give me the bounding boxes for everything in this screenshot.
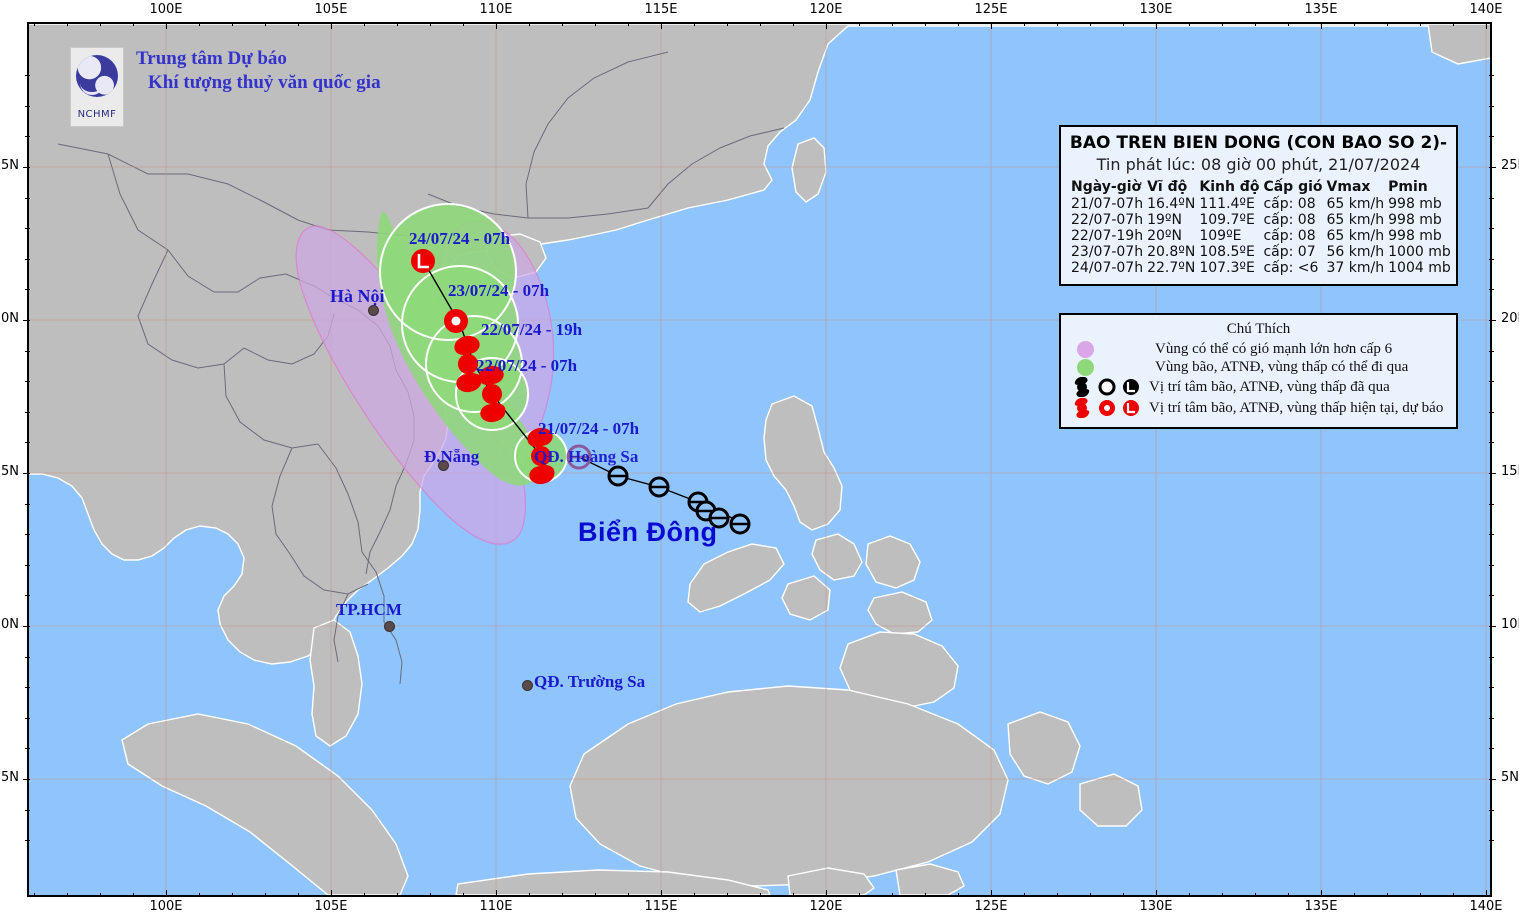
axis-tick: [364, 893, 365, 897]
forecast-col-5: Pmin: [1386, 178, 1453, 196]
axis-label: 115E: [644, 899, 677, 914]
axis-tick: [1453, 22, 1454, 26]
axis-tick: [958, 22, 959, 26]
axis-label: 135E: [1304, 899, 1337, 914]
forecast-col-3: Cấp gió: [1261, 178, 1324, 196]
forecast-cell: 998 mb: [1386, 212, 1453, 228]
axis-label: 10N: [1501, 617, 1519, 632]
legend-title: Chú Thích: [1069, 321, 1448, 338]
agency-name: Trung tâm Dự báo Khí tượng thuỷ văn quốc…: [136, 47, 381, 95]
forecast-cell: 998 mb: [1386, 196, 1453, 212]
axis-label: 130E: [1139, 2, 1172, 17]
forecast-position-24-07-07h: [411, 249, 435, 273]
axis-tick: [25, 136, 30, 137]
forecast-cell: 107.3ºE: [1197, 260, 1261, 276]
axis-tick: [1189, 22, 1190, 26]
axis-tick: [694, 22, 695, 26]
axis-tick: [232, 22, 233, 26]
axis-tick: [1156, 22, 1157, 29]
axis-tick: [25, 810, 30, 811]
axis-tick: [100, 893, 101, 897]
axis-tick: [1489, 473, 1496, 474]
axis-tick: [628, 893, 629, 897]
forecast-row: 22/07-19h20ºN109ºEcấp: 0865 km/h998 mb: [1069, 228, 1453, 244]
forecast-row: 22/07-07h19ºN109.7ºEcấp: 0865 km/h998 mb: [1069, 212, 1453, 228]
axis-tick: [1288, 22, 1289, 26]
axis-tick: [1489, 442, 1494, 443]
nchmf-logo: NCHMF Trung tâm Dự báo Khí tượng thuỷ vă…: [70, 47, 381, 127]
nchmf-emblem-icon: NCHMF: [70, 47, 124, 127]
axis-tick: [1489, 198, 1494, 199]
axis-tick: [331, 890, 332, 897]
forecast-cell: 65 km/h: [1325, 228, 1387, 244]
forecast-cell: 1000 mb: [1386, 244, 1453, 260]
axis-tick: [1489, 687, 1494, 688]
axis-tick: [265, 22, 266, 26]
axis-tick: [892, 893, 893, 897]
forecast-cell: 22/07-07h: [1069, 212, 1145, 228]
axis-tick: [1489, 595, 1494, 596]
green-circle-icon: [1077, 359, 1094, 376]
axis-tick: [793, 22, 794, 26]
axis-label: 140E: [1469, 899, 1502, 914]
axis-tick: [727, 893, 728, 897]
axis-tick: [1354, 893, 1355, 897]
axis-tick: [595, 893, 596, 897]
axis-tick: [23, 320, 30, 321]
axis-tick: [925, 893, 926, 897]
forecast-cell: 24/07-07h: [1069, 260, 1145, 276]
axis-tick: [25, 259, 30, 260]
island-dot-truongsa: [522, 680, 533, 691]
axis-tick: [1489, 320, 1496, 321]
forecast-cell: 56 km/h: [1325, 244, 1387, 260]
axis-tick: [397, 22, 398, 26]
axis-tick: [23, 626, 30, 627]
axis-tick: [925, 22, 926, 26]
forecast-col-0: Ngày-giờ: [1069, 178, 1145, 196]
axis-tick: [1123, 22, 1124, 26]
axis-tick: [760, 22, 761, 26]
axis-tick: [826, 890, 827, 897]
axis-tick: [1057, 22, 1058, 26]
storm-info-panel: BAO TREN BIEN DONG (CON BAO SO 2)- Tin p…: [1059, 125, 1458, 286]
axis-tick: [1489, 840, 1494, 841]
axis-tick: [991, 890, 992, 897]
city-label-tphcm: TP.HCM: [336, 600, 402, 620]
city-dot-tphcm: [384, 621, 395, 632]
axis-tick: [661, 890, 662, 897]
axis-tick: [1222, 893, 1223, 897]
legend-item-path: Vùng bão, ATNĐ, vùng thấp có thể đi qua: [1069, 359, 1448, 376]
open-circle-red-icon: [1097, 398, 1117, 418]
axis-tick: [1489, 565, 1494, 566]
axis-tick: [25, 657, 30, 658]
island-label-hoangsa: QĐ. Hoàng Sa: [534, 447, 638, 467]
axis-tick: [166, 890, 167, 897]
agency-name-line2: Khí tượng thuỷ văn quốc gia: [136, 71, 381, 95]
forecast-table-body: 21/07-07h16.4ºN111.4ºEcấp: 0865 km/h998 …: [1069, 196, 1453, 276]
axis-label: 10N: [0, 617, 19, 632]
axis-tick: [25, 504, 30, 505]
axis-tick: [1420, 893, 1421, 897]
axis-tick: [67, 893, 68, 897]
axis-tick: [1489, 626, 1496, 627]
legend-item-current: Vị trí tâm bão, ATNĐ, vùng thấp hiện tại…: [1069, 398, 1448, 418]
axis-tick: [859, 893, 860, 897]
forecast-cell: 16.4ºN: [1145, 196, 1197, 212]
axis-tick: [34, 22, 35, 26]
axis-right: [1490, 22, 1492, 897]
axis-tick: [397, 893, 398, 897]
axis-tick: [199, 22, 200, 26]
axis-tick: [562, 893, 563, 897]
forecast-cell: 19ºN: [1145, 212, 1197, 228]
axis-tick: [1222, 22, 1223, 26]
forecast-cell: 65 km/h: [1325, 212, 1387, 228]
axis-tick: [859, 22, 860, 26]
axis-tick: [628, 22, 629, 26]
axis-tick: [793, 893, 794, 897]
storm-info-subtitle: Tin phát lúc: 08 giờ 00 phút, 21/07/2024: [1069, 155, 1448, 174]
axis-tick: [25, 687, 30, 688]
axis-tick: [265, 893, 266, 897]
forecast-row: 23/07-07h20.8ºN108.5ºEcấp: 0756 km/h1000…: [1069, 244, 1453, 260]
forecast-cell: 21/07-07h: [1069, 196, 1145, 212]
axis-tick: [331, 22, 332, 29]
forecast-row: 21/07-07h16.4ºN111.4ºEcấp: 0865 km/h998 …: [1069, 196, 1453, 212]
axis-tick: [1057, 893, 1058, 897]
axis-tick: [25, 412, 30, 413]
axis-tick: [727, 22, 728, 26]
nchmf-acronym: NCHMF: [71, 109, 123, 120]
forecast-table: Ngày-giờVĩ độKinh độCấp gióVmaxPmin 21/0…: [1069, 178, 1453, 276]
axis-label: 125E: [974, 899, 1007, 914]
forecast-time-label-23: 23/07/24 - 07h: [448, 281, 549, 301]
forecast-position-23-07-07h: [444, 309, 468, 333]
axis-tick: [1387, 22, 1388, 26]
axis-label: 5N: [1501, 770, 1519, 785]
axis-tick: [1489, 718, 1494, 719]
forecast-cell: 109.7ºE: [1197, 212, 1261, 228]
axis-label: 100E: [149, 899, 182, 914]
forecast-cell: 65 km/h: [1325, 196, 1387, 212]
legend-label-current: Vị trí tâm bão, ATNĐ, vùng thấp hiện tại…: [1149, 400, 1443, 417]
axis-tick: [199, 893, 200, 897]
axis-tick: [25, 534, 30, 535]
legend-symbol-purple-circle: [1069, 341, 1155, 358]
forecast-cell: 23/07-07h: [1069, 244, 1145, 260]
legend-item-past: Vị trí tâm bão, ATNĐ, vùng thấp đã qua: [1069, 377, 1448, 397]
axis-tick: [1024, 22, 1025, 26]
legend-symbol-red-group: [1069, 398, 1149, 418]
forecast-cell: cấp: 07: [1261, 244, 1324, 260]
axis-label: 120E: [809, 899, 842, 914]
forecast-col-1: Vĩ độ: [1145, 178, 1197, 196]
axis-tick: [23, 779, 30, 780]
legend-panel: Chú Thích Vùng có thể có gió mạnh lớn hơ…: [1059, 313, 1458, 429]
axis-tick: [1489, 106, 1494, 107]
forecast-cell: 20ºN: [1145, 228, 1197, 244]
legend-label-past: Vị trí tâm bão, ATNĐ, vùng thấp đã qua: [1149, 379, 1390, 396]
axis-tick: [760, 893, 761, 897]
axis-tick: [1489, 381, 1494, 382]
axis-label: 125E: [974, 2, 1007, 17]
axis-tick: [166, 22, 167, 29]
legend-label-wind6: Vùng có thể có gió mạnh lớn hơn cấp 6: [1155, 341, 1392, 358]
axis-label: 110E: [479, 2, 512, 17]
axis-label: 15N: [0, 464, 19, 479]
forecast-time-label-21: 21/07/24 - 07h: [538, 419, 639, 439]
forecast-cell: 998 mb: [1386, 228, 1453, 244]
axis-tick: [1189, 893, 1190, 897]
axis-label: 135E: [1304, 2, 1337, 17]
axis-tick: [1288, 893, 1289, 897]
axis-tick: [25, 381, 30, 382]
axis-tick: [25, 351, 30, 352]
open-circle-black-icon: [1097, 377, 1117, 397]
axis-tick: [1255, 22, 1256, 26]
axis-tick: [1024, 893, 1025, 897]
axis-label: 100E: [149, 2, 182, 17]
axis-left: [27, 22, 29, 897]
axis-tick: [463, 893, 464, 897]
forecast-time-label-22-07h: 22/07/24 - 07h: [476, 356, 577, 376]
axis-tick: [23, 167, 30, 168]
forecast-cell: cấp: 08: [1261, 196, 1324, 212]
forecast-table-header: Ngày-giờVĩ độKinh độCấp gióVmaxPmin: [1069, 178, 1453, 196]
axis-tick: [1489, 779, 1496, 780]
axis-tick: [1489, 657, 1494, 658]
axis-tick: [694, 893, 695, 897]
axis-tick: [1387, 893, 1388, 897]
axis-tick: [25, 198, 30, 199]
axis-tick: [25, 75, 30, 76]
axis-tick: [892, 22, 893, 26]
legend-item-wind6: Vùng có thể có gió mạnh lớn hơn cấp 6: [1069, 341, 1448, 358]
forecast-cell: cấp: <6: [1261, 260, 1324, 276]
axis-tick: [1489, 167, 1496, 168]
axis-tick: [1486, 22, 1487, 29]
axis-tick: [1489, 289, 1494, 290]
axis-tick: [1123, 893, 1124, 897]
axis-tick: [1489, 748, 1494, 749]
axis-tick: [1354, 22, 1355, 26]
axis-label: 20N: [1501, 311, 1519, 326]
axis-tick: [67, 22, 68, 26]
axis-tick: [364, 22, 365, 26]
axis-label: 105E: [314, 899, 347, 914]
axis-label: 5N: [1, 770, 19, 785]
axis-tick: [25, 595, 30, 596]
axis-tick: [958, 893, 959, 897]
storm-info-title: BAO TREN BIEN DONG (CON BAO SO 2)-: [1069, 133, 1448, 153]
axis-label: 110E: [479, 899, 512, 914]
axis-tick: [25, 289, 30, 290]
axis-label: 120E: [809, 2, 842, 17]
axis-tick: [1489, 534, 1494, 535]
axis-tick: [1321, 22, 1322, 29]
axis-tick: [1489, 136, 1494, 137]
forecast-col-2: Kinh độ: [1197, 178, 1261, 196]
island-label-truongsa: QĐ. Trường Sa: [534, 672, 645, 692]
axis-label: 105E: [314, 2, 347, 17]
axis-tick: [991, 22, 992, 29]
low-pressure-red-icon: [1121, 398, 1141, 418]
axis-tick: [1255, 893, 1256, 897]
city-label-danang: Đ.Nẵng: [424, 447, 479, 467]
axis-tick: [1489, 504, 1494, 505]
typhoon-spiral-red-icon: [1071, 398, 1093, 418]
axis-tick: [232, 893, 233, 897]
axis-tick: [496, 22, 497, 29]
typhoon-spiral-black-icon: [1071, 377, 1093, 397]
sea-name-label: Biển Đông: [578, 517, 718, 548]
axis-tick: [463, 22, 464, 26]
axis-tick: [529, 893, 530, 897]
axis-tick: [25, 748, 30, 749]
axis-tick: [430, 893, 431, 897]
forecast-time-label-22-19h: 22/07/24 - 19h: [481, 320, 582, 340]
legend-symbol-black-group: [1069, 377, 1149, 397]
legend-label-path: Vùng bão, ATNĐ, vùng thấp có thể đi qua: [1155, 359, 1408, 376]
axis-tick: [1453, 893, 1454, 897]
forecast-cell: 22/07-19h: [1069, 228, 1145, 244]
axis-tick: [1489, 412, 1494, 413]
forecast-time-label-24: 24/07/24 - 07h: [409, 229, 510, 249]
axis-tick: [661, 22, 662, 29]
low-pressure-black-icon: [1121, 377, 1141, 397]
axis-tick: [25, 840, 30, 841]
axis-tick: [430, 22, 431, 26]
purple-circle-icon: [1077, 341, 1094, 358]
axis-label: 15N: [1501, 464, 1519, 479]
axis-label: 25N: [0, 158, 19, 173]
axis-tick: [1489, 228, 1494, 229]
axis-label: 130E: [1139, 899, 1172, 914]
axis-tick: [1156, 890, 1157, 897]
axis-tick: [23, 473, 30, 474]
axis-tick: [100, 22, 101, 26]
axis-tick: [25, 442, 30, 443]
forecast-cell: 111.4ºE: [1197, 196, 1261, 212]
axis-tick: [133, 893, 134, 897]
axis-tick: [1090, 893, 1091, 897]
axis-tick: [826, 22, 827, 29]
forecast-cell: 37 km/h: [1325, 260, 1387, 276]
axis-tick: [1090, 22, 1091, 26]
axis-tick: [529, 22, 530, 26]
forecast-cell: 109ºE: [1197, 228, 1261, 244]
forecast-cell: 22.7ºN: [1145, 260, 1197, 276]
axis-label: 115E: [644, 2, 677, 17]
axis-tick: [562, 22, 563, 26]
forecast-col-4: Vmax: [1325, 178, 1387, 196]
storm-forecast-map: Hà Nội Đ.Nẵng TP.HCM QĐ. Trường Sa QĐ. H…: [0, 0, 1519, 919]
forecast-cell: 20.8ºN: [1145, 244, 1197, 260]
axis-tick: [1321, 890, 1322, 897]
legend-symbol-green-circle: [1069, 359, 1155, 376]
forecast-cell: 1004 mb: [1386, 260, 1453, 276]
axis-tick: [133, 22, 134, 26]
forecast-cell: 108.5ºE: [1197, 244, 1261, 260]
axis-tick: [1420, 22, 1421, 26]
axis-tick: [298, 893, 299, 897]
axis-tick: [25, 565, 30, 566]
axis-tick: [34, 893, 35, 897]
axis-label: 20N: [0, 311, 19, 326]
axis-tick: [298, 22, 299, 26]
forecast-cell: cấp: 08: [1261, 228, 1324, 244]
axis-tick: [496, 890, 497, 897]
city-label-hanoi: Hà Nội: [330, 286, 385, 307]
axis-tick: [25, 228, 30, 229]
axis-tick: [25, 106, 30, 107]
axis-tick: [1489, 259, 1494, 260]
axis-tick: [1489, 351, 1494, 352]
axis-label: 25N: [1501, 158, 1519, 173]
axis-tick: [1489, 75, 1494, 76]
axis-tick: [1486, 890, 1487, 897]
axis-tick: [25, 718, 30, 719]
axis-label: 140E: [1469, 2, 1502, 17]
axis-tick: [595, 22, 596, 26]
forecast-cell: cấp: 08: [1261, 212, 1324, 228]
forecast-row: 24/07-07h22.7ºN107.3ºEcấp: <637 km/h1004…: [1069, 260, 1453, 276]
agency-name-line1: Trung tâm Dự báo: [136, 47, 381, 71]
axis-tick: [1489, 810, 1494, 811]
